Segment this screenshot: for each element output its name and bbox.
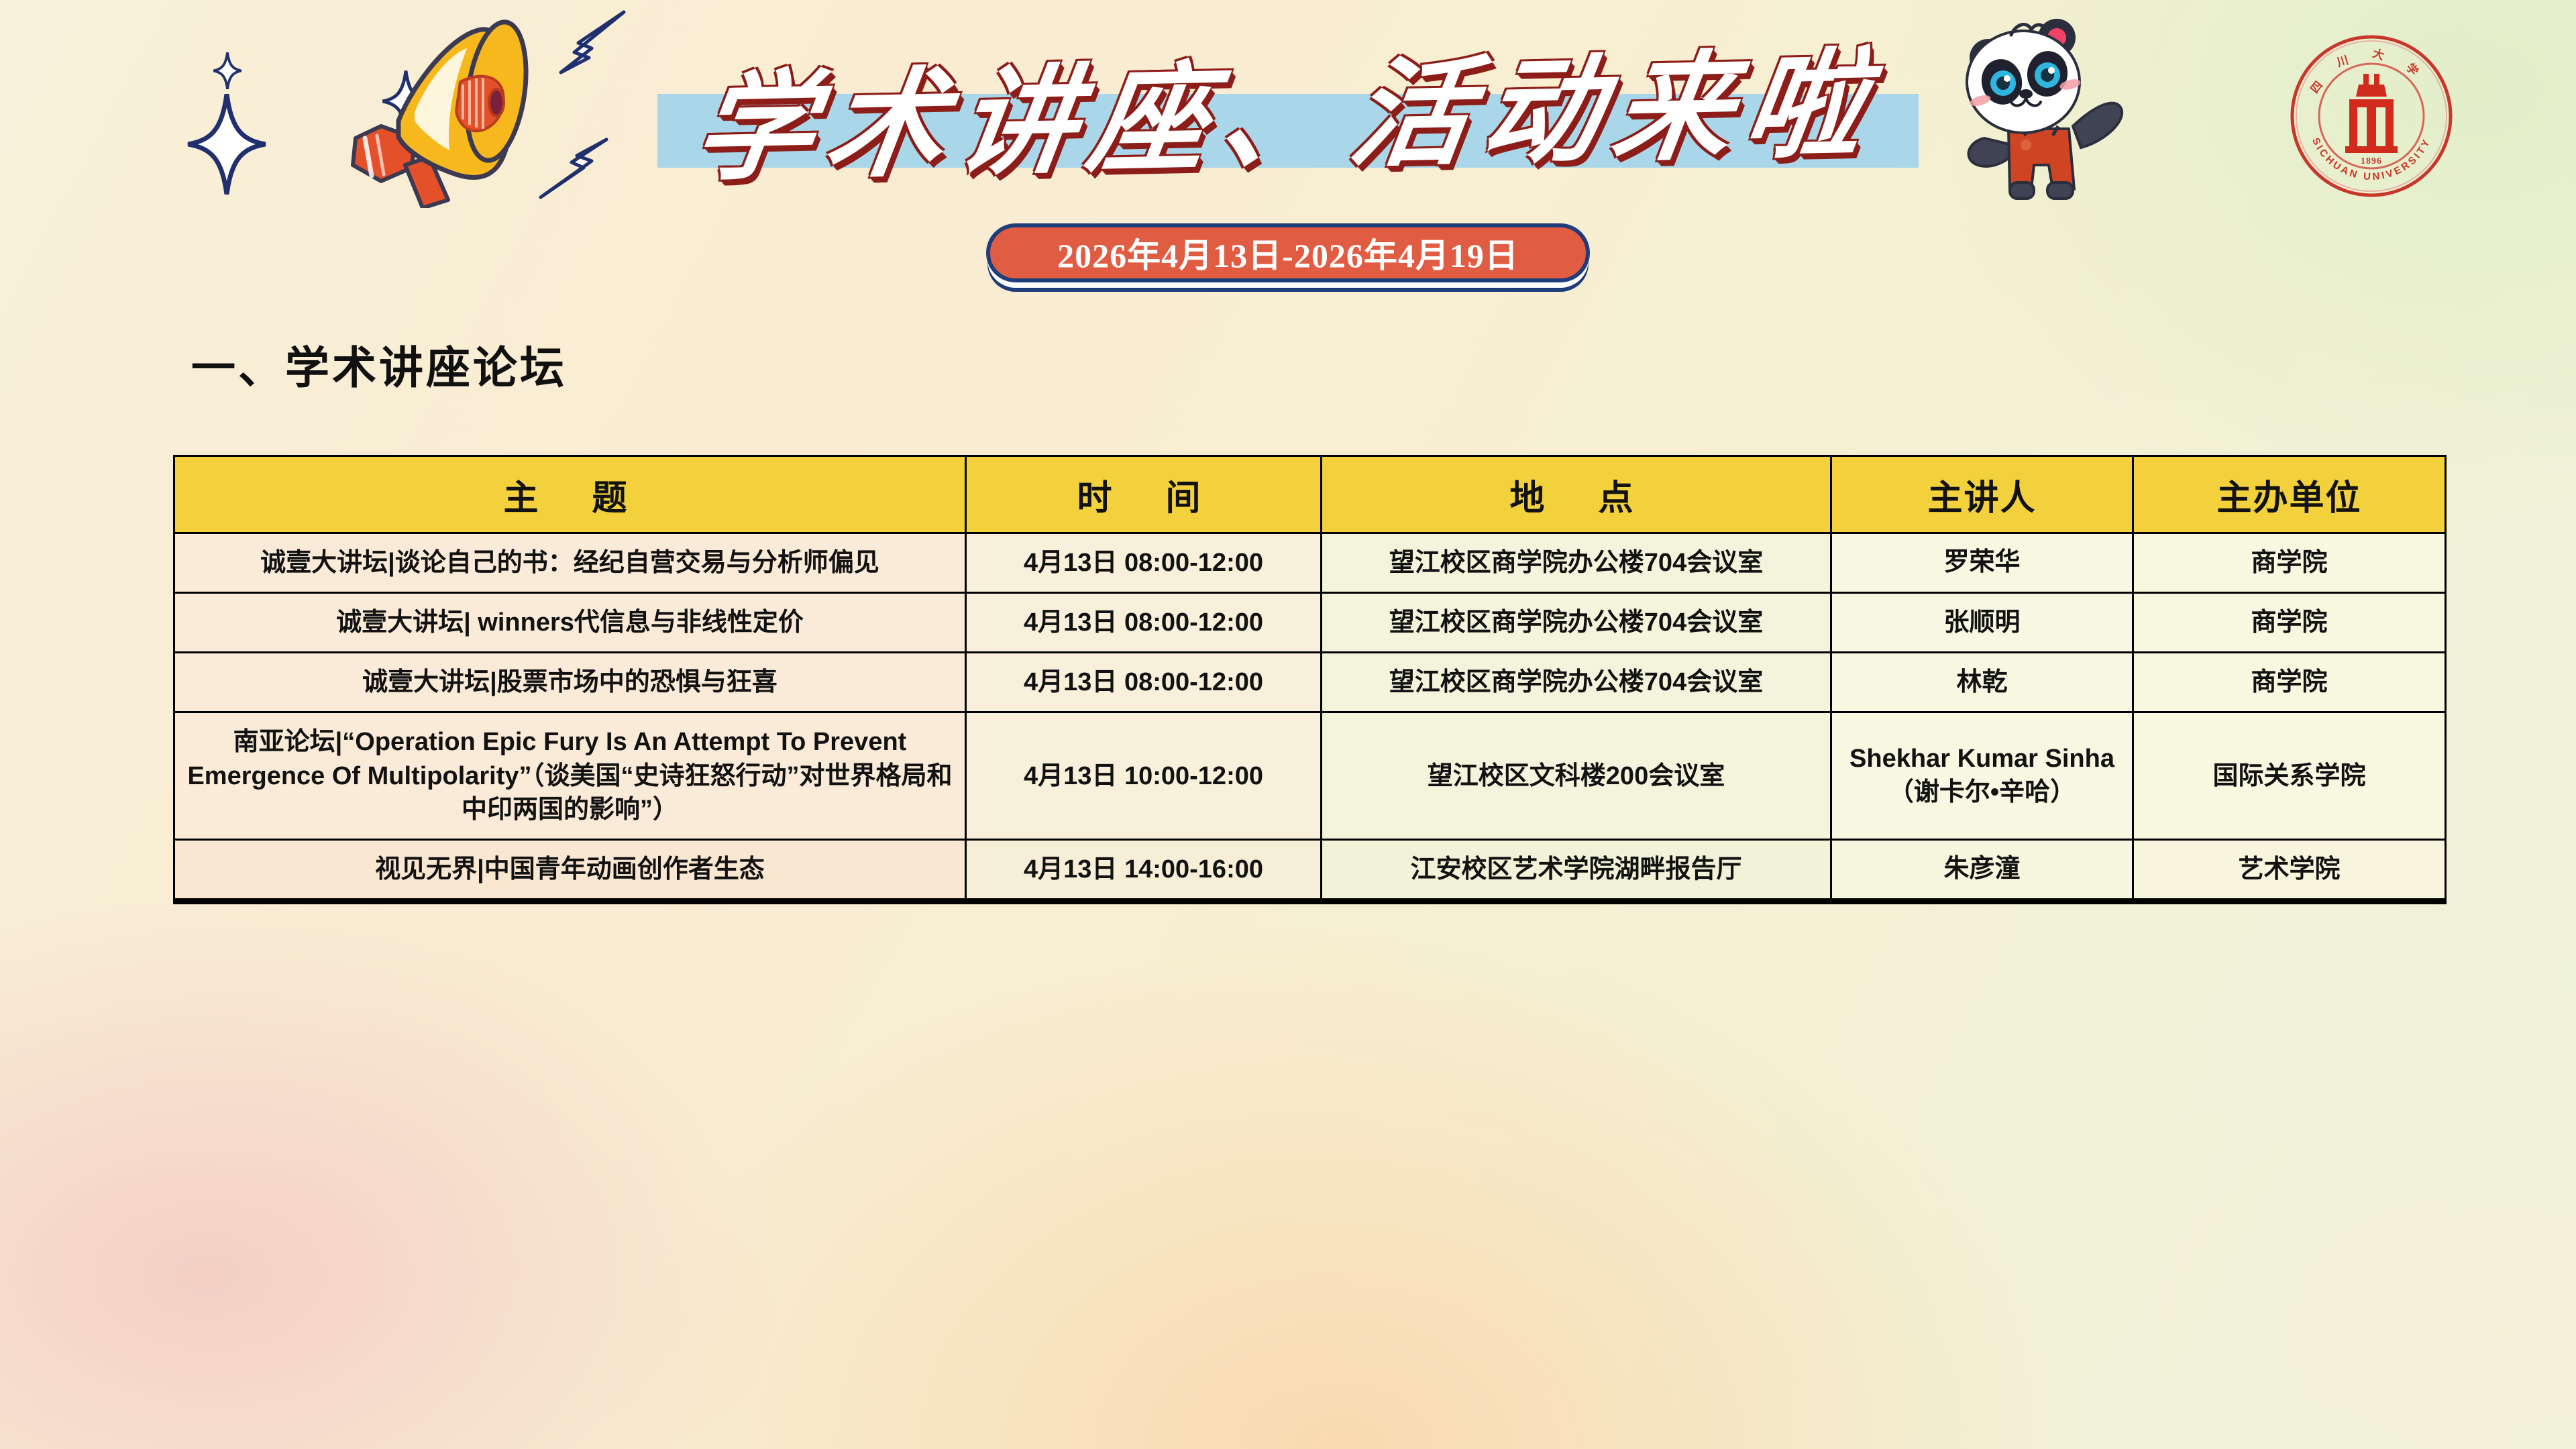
cell-time: 4月13日 14:00-16:00 (966, 839, 1322, 901)
cell-place: 江安校区艺术学院湖畔报告厅 (1322, 839, 1831, 901)
cell-topic: 诚壹大讲坛| winners代信息与非线性定价 (174, 593, 966, 653)
svg-text:1896: 1896 (2361, 156, 2382, 166)
cell-place: 望江校区文科楼200会议室 (1322, 712, 1831, 839)
table-row: 诚壹大讲坛| winners代信息与非线性定价 4月13日 08:00-12:0… (174, 593, 2446, 653)
cell-speaker: 罗荣华 (1831, 533, 2133, 593)
cell-speaker: 张顺明 (1831, 593, 2133, 653)
cell-place: 望江校区商学院办公楼704会议室 (1322, 653, 1831, 712)
section-heading: 一、学术讲座论坛 (191, 332, 567, 396)
lightning-bolt-icon (537, 131, 637, 205)
lightning-bolt-icon (530, 8, 631, 89)
cell-org: 国际关系学院 (2133, 712, 2446, 839)
sichuan-university-logo: 四川大学 SICHUAN UNIVERSITY 1896 (2288, 32, 2455, 200)
page-title: 学术讲座、活动来啦 (657, 94, 1919, 168)
cell-time: 4月13日 08:00-12:00 (966, 593, 1322, 653)
cell-time: 4月13日 08:00-12:00 (966, 653, 1322, 712)
panda-mascot-icon (1936, 7, 2157, 208)
table-header-row: 主 题 时 间 地 点 主讲人 主办单位 (174, 456, 2446, 533)
lecture-schedule-table: 主 题 时 间 地 点 主讲人 主办单位 诚壹大讲坛|谈论自己的书：经纪自营交易… (173, 455, 2447, 904)
table-row: 视见无界|中国青年动画创作者生态 4月13日 14:00-16:00 江安校区艺… (174, 839, 2446, 901)
title-text: 学术讲座、活动来啦 (644, 8, 1933, 204)
cell-org: 商学院 (2133, 653, 2446, 712)
column-header-speaker: 主讲人 (1831, 456, 2133, 533)
cell-topic: 南亚论坛|“Operation Epic Fury Is An Attempt … (174, 712, 966, 839)
cell-time: 4月13日 08:00-12:00 (966, 533, 1322, 593)
cell-speaker: 林乾 (1831, 653, 2133, 712)
sparkle-icon (186, 94, 267, 195)
date-range-badge: 2026年4月13日-2026年4月19日 (986, 223, 1590, 282)
column-header-topic: 主 题 (174, 456, 966, 533)
megaphone-icon (280, 7, 569, 208)
table-row: 诚壹大讲坛|股票市场中的恐惧与狂喜 4月13日 08:00-12:00 望江校区… (174, 653, 2446, 712)
table-body: 诚壹大讲坛|谈论自己的书：经纪自营交易与分析师偏见 4月13日 08:00-12… (174, 533, 2446, 902)
cell-topic: 视见无界|中国青年动画创作者生态 (174, 839, 966, 901)
column-header-org: 主办单位 (2133, 456, 2446, 533)
column-header-place: 地 点 (1322, 456, 1831, 533)
cell-speaker: Shekhar Kumar Sinha（谢卡尔•辛哈） (1831, 712, 2133, 839)
cell-org: 商学院 (2133, 533, 2446, 593)
table-row: 南亚论坛|“Operation Epic Fury Is An Attempt … (174, 712, 2446, 839)
table-row: 诚壹大讲坛|谈论自己的书：经纪自营交易与分析师偏见 4月13日 08:00-12… (174, 533, 2446, 593)
cell-topic: 诚壹大讲坛|谈论自己的书：经纪自营交易与分析师偏见 (174, 533, 966, 593)
cell-time: 4月13日 10:00-12:00 (966, 712, 1322, 839)
cell-org: 商学院 (2133, 593, 2446, 653)
cell-org: 艺术学院 (2133, 839, 2446, 901)
column-header-time: 时 间 (966, 456, 1322, 533)
cell-speaker: 朱彦潼 (1831, 839, 2133, 901)
date-range-text: 2026年4月13日-2026年4月19日 (1057, 229, 1519, 277)
cell-place: 望江校区商学院办公楼704会议室 (1322, 533, 1831, 593)
cell-place: 望江校区商学院办公楼704会议室 (1322, 593, 1831, 653)
cell-topic: 诚壹大讲坛|股票市场中的恐惧与狂喜 (174, 653, 966, 712)
sparkle-icon (213, 52, 241, 89)
